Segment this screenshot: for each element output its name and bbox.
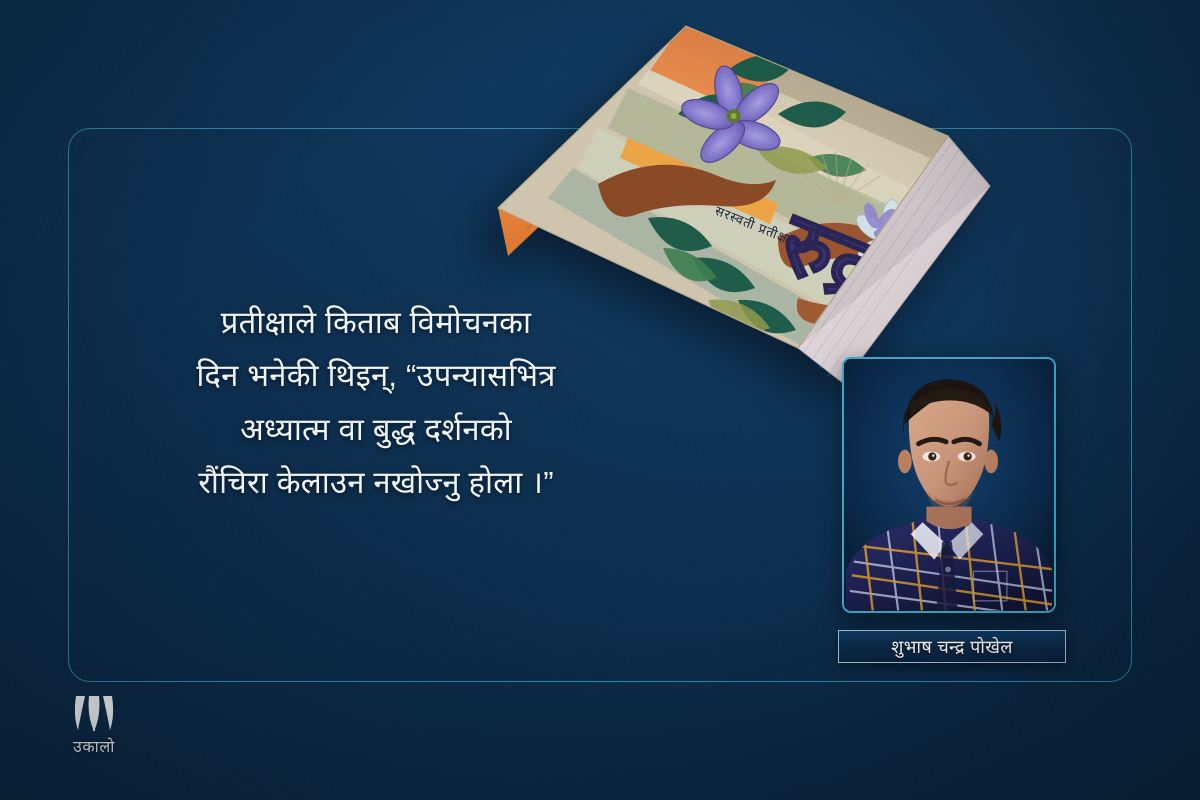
quote-line-3: अध्यात्म वा बुद्ध दर्शनको	[56, 403, 696, 456]
quote-line-1: प्रतीक्षाले किताब विमोचनका	[56, 296, 696, 349]
quote-line-2: दिन भनेकी थिइन्, “उपन्यासभित्र	[56, 349, 696, 402]
brand-name-label: उकालो	[73, 735, 115, 757]
quote-text: प्रतीक्षाले किताब विमोचनका दिन भनेकी थिइ…	[56, 296, 696, 509]
speaker-portrait	[842, 357, 1056, 613]
brand-logo[interactable]: उकालो	[48, 693, 140, 761]
quote-card-canvas: सरस्वती प्रतीक्षा रुद्र प्रतीक्षाले किता…	[0, 0, 1200, 800]
portrait-photo	[844, 359, 1054, 611]
peak-logo-icon	[71, 693, 117, 733]
speaker-name-badge: शुभाष चन्द्र पोखेल	[838, 630, 1066, 663]
quote-line-4: रौंचिरा केलाउन नखोज्नु होला ।”	[56, 456, 696, 509]
speaker-name-label: शुभाष चन्द्र पोखेल	[891, 635, 1013, 659]
